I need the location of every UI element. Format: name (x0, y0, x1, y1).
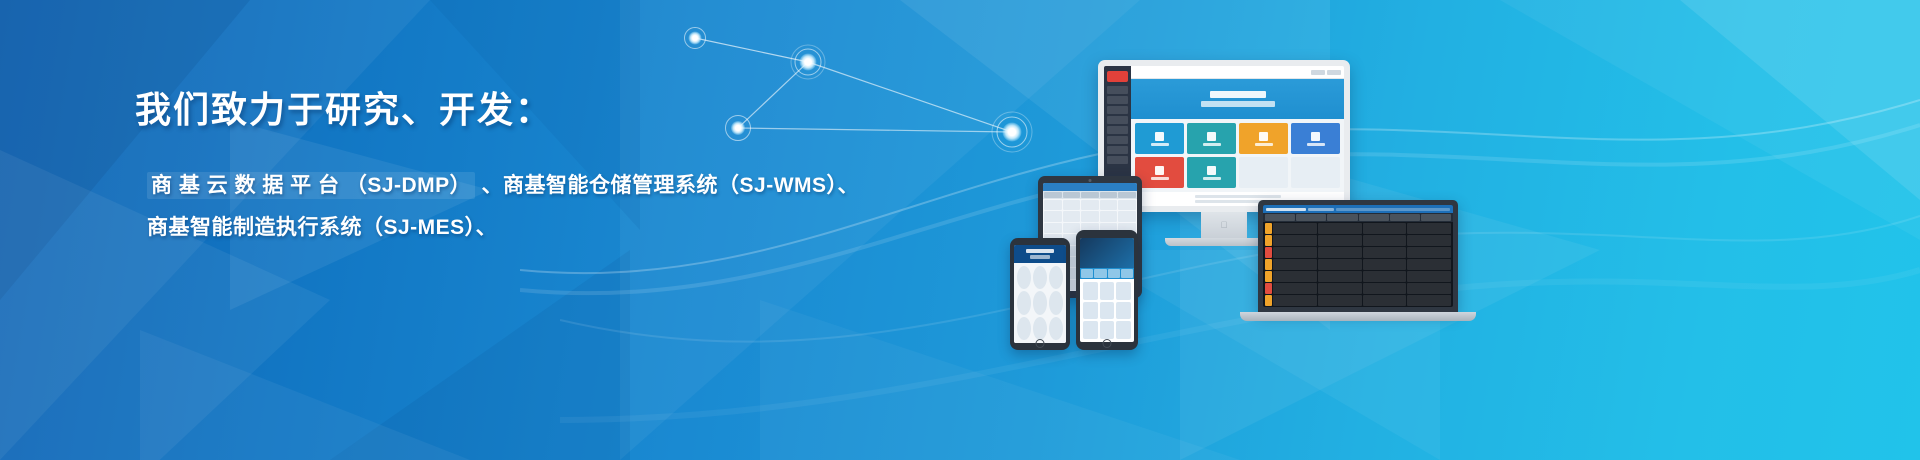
app-tile[interactable] (1187, 123, 1236, 154)
app-tile[interactable] (1291, 123, 1340, 154)
laptop-screen (1263, 205, 1453, 307)
app-hero (1131, 79, 1344, 119)
table-row[interactable] (1044, 200, 1136, 210)
phone-header (1014, 245, 1066, 263)
table-row[interactable] (1265, 283, 1451, 294)
table-row[interactable] (1265, 223, 1451, 234)
app-icon[interactable] (1017, 266, 1031, 289)
app-icon[interactable] (1100, 321, 1115, 339)
brand-mark-icon:  (1221, 220, 1228, 230)
phone-nav[interactable] (1080, 268, 1134, 279)
background-facet (140, 330, 470, 460)
product-line-1-rest: 、商基智能仓储管理系统（SJ-WMS）、 (475, 174, 859, 197)
laptop-bezel (1258, 200, 1458, 312)
table-body (1263, 222, 1453, 307)
table-header (1043, 191, 1137, 199)
app-icon[interactable] (1116, 302, 1131, 320)
app-icon[interactable] (1033, 266, 1047, 289)
camera-icon (1089, 179, 1092, 182)
hero-copy: 我们致力于研究、开发： 商 基 云 数 据 平 台 （SJ-DMP） 、商基智能… (135, 88, 955, 249)
table-row[interactable] (1265, 295, 1451, 306)
brand-logo-icon (1107, 71, 1128, 82)
home-button[interactable] (1103, 339, 1112, 348)
network-node (684, 27, 706, 49)
background-facet (330, 250, 630, 460)
app-icon[interactable] (1116, 282, 1131, 300)
app-tile[interactable] (1239, 123, 1288, 154)
sidebar-item[interactable] (1107, 136, 1128, 144)
table-row[interactable] (1265, 247, 1451, 258)
app-hero-title (1210, 91, 1266, 98)
sidebar-item[interactable] (1107, 96, 1128, 104)
app-icon[interactable] (1017, 317, 1031, 340)
app-icon[interactable] (1083, 302, 1098, 320)
table-header (1263, 213, 1453, 222)
app-icon[interactable] (1017, 291, 1031, 314)
phone-icon-grid (1080, 279, 1134, 342)
laptop (1258, 200, 1458, 321)
tablet-titlebar (1043, 183, 1137, 191)
app-tile (1291, 157, 1340, 188)
product-line-1: 商 基 云 数 据 平 台 （SJ-DMP） 、商基智能仓储管理系统（SJ-WM… (147, 165, 955, 207)
home-button[interactable] (1036, 339, 1045, 348)
search-icon[interactable] (1311, 70, 1325, 75)
phone-bezel (1076, 230, 1138, 350)
phone-bezel (1010, 238, 1070, 350)
network-node (791, 45, 825, 79)
phone-hero (1080, 238, 1134, 268)
app-icon[interactable] (1049, 266, 1063, 289)
app-tile[interactable] (1135, 157, 1184, 188)
product-list: 商 基 云 数 据 平 台 （SJ-DMP） 、商基智能仓储管理系统（SJ-WM… (147, 165, 955, 249)
sidebar-item[interactable] (1107, 106, 1128, 114)
app-hero-subtitle (1201, 101, 1275, 107)
product-line-2: 商基智能制造执行系统（SJ-MES）、 (147, 207, 955, 249)
table-row[interactable] (1265, 235, 1451, 246)
table-row[interactable] (1044, 211, 1136, 221)
table-row[interactable] (1265, 271, 1451, 282)
app-icon[interactable] (1100, 282, 1115, 300)
footer-line-cn (1195, 195, 1281, 198)
app-tile-grid (1131, 119, 1344, 192)
app-icon[interactable] (1049, 317, 1063, 340)
app-icon[interactable] (1083, 282, 1098, 300)
app-tile[interactable] (1187, 157, 1236, 188)
product-line-1-highlight: 商 基 云 数 据 平 台 （SJ-DMP） (147, 172, 475, 199)
sidebar-item[interactable] (1107, 116, 1128, 124)
app-tile (1239, 157, 1288, 188)
device-mockups:  (1010, 48, 1920, 348)
laptop-base (1240, 312, 1476, 321)
page-title: 我们致力于研究、开发： (135, 88, 955, 131)
phone-screen (1014, 245, 1066, 343)
phone-icon-grid (1014, 263, 1066, 343)
app-icon[interactable] (1083, 321, 1098, 339)
phone-screen (1080, 238, 1134, 342)
app-tile[interactable] (1135, 123, 1184, 154)
app-icon[interactable] (1049, 291, 1063, 314)
laptop-titlebar (1263, 205, 1453, 213)
app-main (1131, 66, 1344, 206)
sidebar-item[interactable] (1107, 86, 1128, 94)
phone-report (1010, 238, 1070, 350)
app-icon[interactable] (1033, 291, 1047, 314)
sidebar-item[interactable] (1107, 156, 1128, 164)
user-avatar[interactable] (1327, 70, 1341, 75)
hero-banner: 我们致力于研究、开发： 商 基 云 数 据 平 台 （SJ-DMP） 、商基智能… (0, 0, 1920, 460)
app-icon[interactable] (1116, 321, 1131, 339)
app-topbar (1131, 66, 1344, 79)
app-icon[interactable] (1033, 317, 1047, 340)
table-row[interactable] (1265, 259, 1451, 270)
sidebar-item[interactable] (1107, 146, 1128, 154)
product-line-2-rest: 商基智能制造执行系统（SJ-MES）、 (147, 216, 497, 239)
phone-portal (1076, 230, 1138, 350)
app-icon[interactable] (1100, 302, 1115, 320)
sidebar-item[interactable] (1107, 126, 1128, 134)
